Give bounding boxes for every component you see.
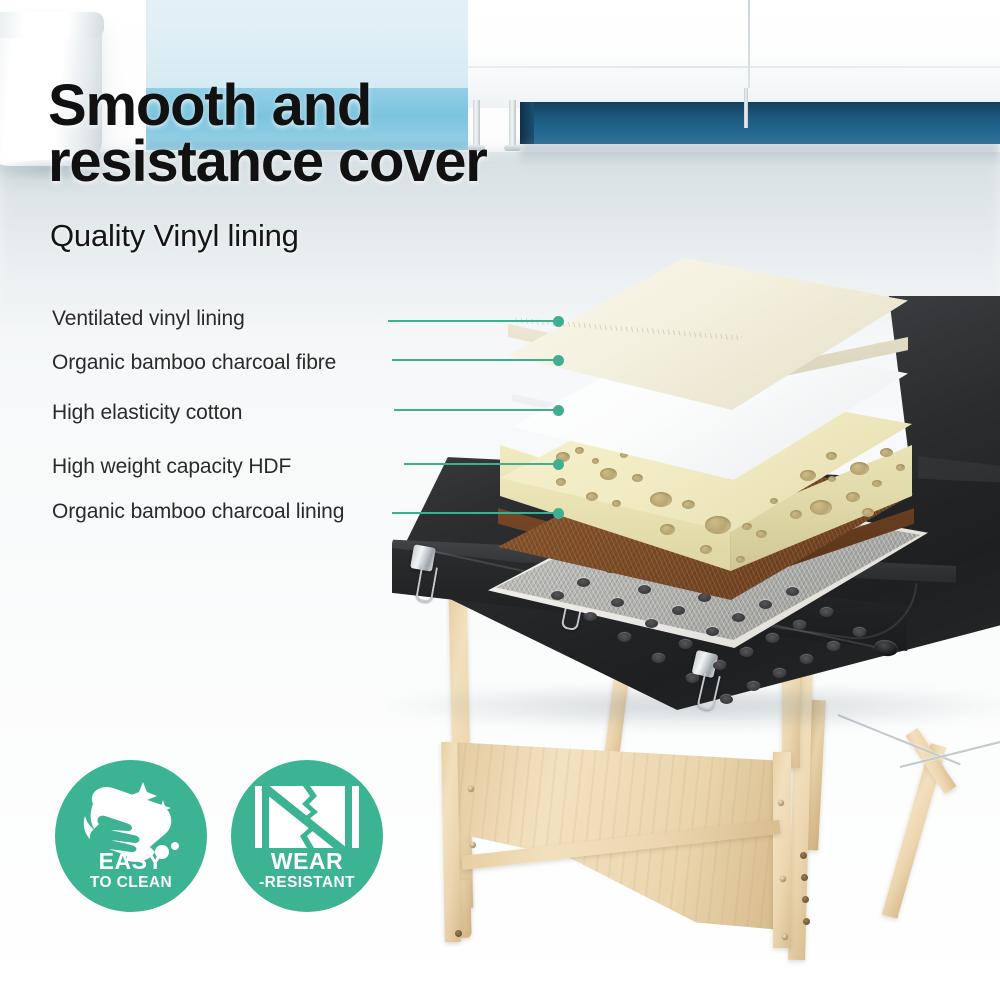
mesh-dimple (820, 608, 833, 617)
badge-title: EASY (55, 848, 207, 875)
foam-pore (736, 556, 745, 563)
feature-label-white-fibre-sheet: Organic bamboo charcoal fibre (52, 351, 336, 375)
badge-wear-resistant: WEAR -RESISTANT (231, 760, 383, 912)
wood-screw (780, 876, 786, 882)
mesh-dimple (551, 591, 564, 600)
foam-pore (880, 448, 893, 457)
leader-dot-grey-mesh-layer (553, 508, 564, 519)
headline-line-2: resistance cover (48, 134, 608, 190)
feature-label-grey-mesh-layer: Organic bamboo charcoal lining (52, 500, 344, 524)
foam-pore (650, 492, 672, 507)
foam-pore (600, 468, 617, 480)
feature-label-yellow-foam-block: High elasticity cotton (52, 401, 242, 425)
wood-brace-rail-right (773, 752, 791, 948)
foam-pore (790, 510, 802, 519)
mesh-dimple (618, 633, 631, 642)
leader-line-brown-hdf-board (404, 463, 556, 465)
foam-pore (850, 462, 869, 475)
feature-label-cream-vinyl-sheet: Ventilated vinyl lining (52, 307, 245, 331)
wood-screw (470, 842, 476, 848)
foam-pore (810, 500, 832, 515)
foam-pore (660, 524, 675, 535)
mesh-dimple (786, 587, 799, 596)
headline-line-1: Smooth and (48, 73, 371, 138)
foam-pore (575, 447, 584, 454)
leader-line-grey-mesh-layer (392, 512, 556, 514)
mesh-dimple (706, 627, 719, 636)
foam-pore (632, 474, 643, 482)
badge-subtitle: -RESISTANT (231, 874, 383, 892)
foam-pore (612, 500, 621, 507)
wood-screw (782, 934, 788, 940)
foam-pore (592, 458, 599, 464)
foam-pore (828, 476, 836, 482)
foam-pore (872, 480, 882, 487)
badge-easy-to-clean: EASY TO CLEAN (55, 760, 207, 912)
leg-adjust-hole (803, 918, 810, 925)
leader-dot-yellow-foam-block (553, 405, 564, 416)
mesh-dimple (827, 642, 840, 651)
foam-pore (846, 492, 860, 502)
leg-adjust-hole (455, 930, 462, 937)
foam-pore (826, 452, 837, 460)
foam-pore (586, 492, 598, 501)
badge-title: WEAR (231, 848, 383, 875)
foam-pore (896, 464, 905, 471)
mesh-dimple (773, 669, 786, 678)
foam-pore (682, 500, 695, 509)
product-marketing-image: Smooth and resistance cover Quality Viny… (0, 0, 1000, 1000)
leg-adjust-hole (801, 874, 808, 881)
leg-adjust-hole (800, 852, 807, 859)
leg-adjust-hole (802, 896, 809, 903)
feature-label-brown-hdf-board: High weight capacity HDF (52, 455, 291, 479)
leader-dot-cream-vinyl-sheet (553, 316, 564, 327)
leader-line-white-fibre-sheet (392, 359, 556, 361)
page-subtitle: Quality Vinyl lining (50, 218, 299, 254)
wood-screw (468, 786, 474, 792)
leader-dot-white-fibre-sheet (553, 355, 564, 366)
mesh-dimple (577, 578, 590, 587)
mesh-dimple (638, 585, 651, 594)
foam-pore (556, 478, 566, 486)
foam-pore (862, 508, 874, 517)
mesh-dimple (759, 600, 772, 609)
foam-pore (800, 470, 816, 481)
mesh-dimple (747, 682, 760, 691)
badge-subtitle: TO CLEAN (55, 874, 207, 892)
mesh-dimple (793, 621, 806, 630)
wood-screw (778, 800, 784, 806)
leader-line-cream-vinyl-sheet (388, 320, 556, 322)
page-title: Smooth and resistance cover (48, 78, 608, 191)
foam-pore (756, 530, 767, 538)
mesh-dimple (672, 606, 685, 615)
foam-pore (742, 523, 752, 530)
leader-dot-brown-hdf-board (553, 459, 564, 470)
foam-pore (770, 498, 778, 504)
leader-line-yellow-foam-block (394, 409, 556, 411)
foam-pore (700, 545, 712, 554)
mesh-dimple (652, 654, 665, 663)
mesh-dimple (740, 648, 753, 657)
mesh-dimple (713, 661, 726, 670)
foam-pore (705, 516, 731, 534)
